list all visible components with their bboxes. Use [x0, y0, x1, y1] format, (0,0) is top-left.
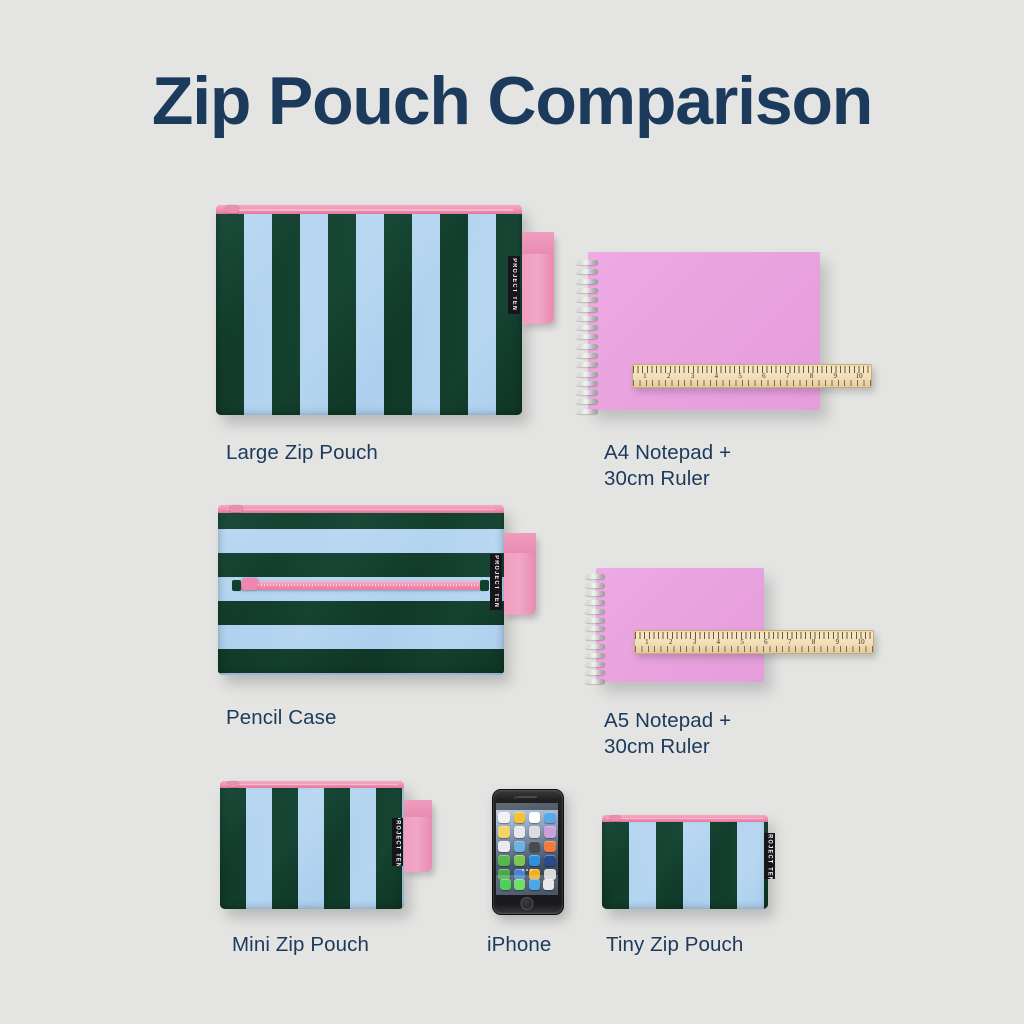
ruler-a5: 1 2 3 4 5 6 7 8 9 10	[634, 630, 874, 654]
front-zipper-pull[interactable]	[242, 578, 258, 590]
app-icon[interactable]	[514, 841, 525, 852]
pouch-body	[220, 781, 404, 909]
app-icon[interactable]	[544, 841, 555, 852]
messages-app-icon[interactable]	[514, 879, 525, 890]
mini-zip-pouch[interactable]	[220, 781, 404, 909]
app-icon[interactable]	[514, 826, 525, 837]
app-icon[interactable]	[529, 826, 540, 837]
phone-app-icon[interactable]	[500, 879, 511, 890]
caption-mini-zip-pouch: Mini Zip Pouch	[232, 932, 462, 958]
pencil-case[interactable]	[218, 505, 504, 675]
app-icon[interactable]	[498, 855, 509, 866]
caption-a4-notepad-ruler: A4 Notepad + 30cm Ruler	[604, 440, 904, 492]
app-icon[interactable]	[544, 812, 555, 823]
notepad-spiral-binding	[585, 568, 605, 690]
top-zipper[interactable]	[602, 815, 768, 822]
app-icon[interactable]	[544, 826, 555, 837]
pouch-body	[218, 505, 504, 675]
large-pouch-pull-tab[interactable]	[522, 232, 554, 324]
pouch-body	[216, 205, 522, 415]
music-app-icon[interactable]	[543, 879, 554, 890]
zipper-slider[interactable]	[230, 506, 242, 512]
iphone[interactable]	[492, 789, 562, 913]
caption-tiny-zip-pouch: Tiny Zip Pouch	[606, 932, 836, 958]
front-camera-icon	[514, 796, 517, 799]
brand-tag-mini: PROJECT TEN	[392, 818, 403, 866]
brand-tag-large: PROJECT TEN	[508, 256, 520, 314]
pencil-case-pull-tab[interactable]	[504, 533, 536, 615]
zipper-slider[interactable]	[610, 816, 620, 821]
top-zipper[interactable]	[220, 781, 404, 788]
app-icon[interactable]	[498, 812, 509, 823]
app-icon[interactable]	[544, 855, 555, 866]
top-zipper[interactable]	[216, 205, 522, 214]
large-zip-pouch[interactable]	[216, 205, 522, 415]
caption-iphone: iPhone	[487, 932, 607, 958]
pouch-edge-shading	[220, 781, 404, 909]
caption-large-zip-pouch: Large Zip Pouch	[226, 440, 516, 466]
tab-fold	[522, 232, 554, 254]
earpiece-speaker	[517, 796, 537, 798]
notepad-page	[596, 568, 764, 682]
caption-a5-notepad-ruler: A5 Notepad + 30cm Ruler	[604, 708, 904, 760]
brand-tag-text: PROJECT TEN	[493, 556, 499, 609]
status-bar	[496, 803, 558, 810]
brand-tag-tiny: PROJECT TEN	[764, 833, 775, 879]
home-button[interactable]	[521, 897, 534, 910]
ruler-a4: 1 2 3 4 5 6 7 8 9 10	[632, 364, 872, 388]
app-icon[interactable]	[514, 855, 525, 866]
app-icon[interactable]	[514, 812, 525, 823]
mini-pouch-pull-tab[interactable]	[404, 800, 432, 872]
pouch-edge-shading	[602, 815, 768, 909]
phone-screen	[496, 803, 558, 895]
zipper-stop-left	[232, 580, 241, 591]
pouch-edge-shading	[216, 205, 522, 415]
app-icon[interactable]	[529, 841, 540, 852]
app-icon[interactable]	[498, 841, 509, 852]
safari-app-icon[interactable]	[529, 879, 540, 890]
brand-tag-text: PROJECT TEN	[395, 818, 401, 866]
dock[interactable]	[496, 875, 558, 895]
notepad-spiral-binding	[576, 252, 598, 422]
brand-tag-pencil-case: PROJECT TEN	[490, 554, 502, 610]
caption-pencil-case: Pencil Case	[226, 705, 486, 731]
tab-fold	[404, 800, 432, 817]
zipper-teeth	[234, 584, 486, 586]
brand-tag-text: PROJECT TEN	[767, 833, 773, 879]
zipper-slider[interactable]	[226, 206, 238, 213]
pouch-edge-shading	[218, 505, 504, 675]
page-title: Zip Pouch Comparison	[0, 62, 1024, 140]
zipper-slider[interactable]	[228, 782, 238, 787]
zipper-stop-right	[480, 580, 489, 591]
tab-fold	[504, 533, 536, 553]
comparison-infographic: Zip Pouch Comparison PROJECT TEN Large Z…	[0, 0, 1024, 1024]
pouch-body	[602, 815, 768, 909]
app-icon[interactable]	[498, 826, 509, 837]
app-icon[interactable]	[529, 812, 540, 823]
a5-notepad	[596, 568, 764, 682]
top-zipper[interactable]	[218, 505, 504, 513]
page-dots	[522, 869, 532, 871]
app-icon[interactable]	[529, 855, 540, 866]
tiny-zip-pouch[interactable]	[602, 815, 768, 909]
ruler-ticks-bottom	[633, 380, 871, 386]
brand-tag-text: PROJECT TEN	[511, 259, 517, 312]
front-pocket-zipper[interactable]	[234, 581, 486, 590]
ruler-ticks-bottom	[635, 646, 873, 652]
